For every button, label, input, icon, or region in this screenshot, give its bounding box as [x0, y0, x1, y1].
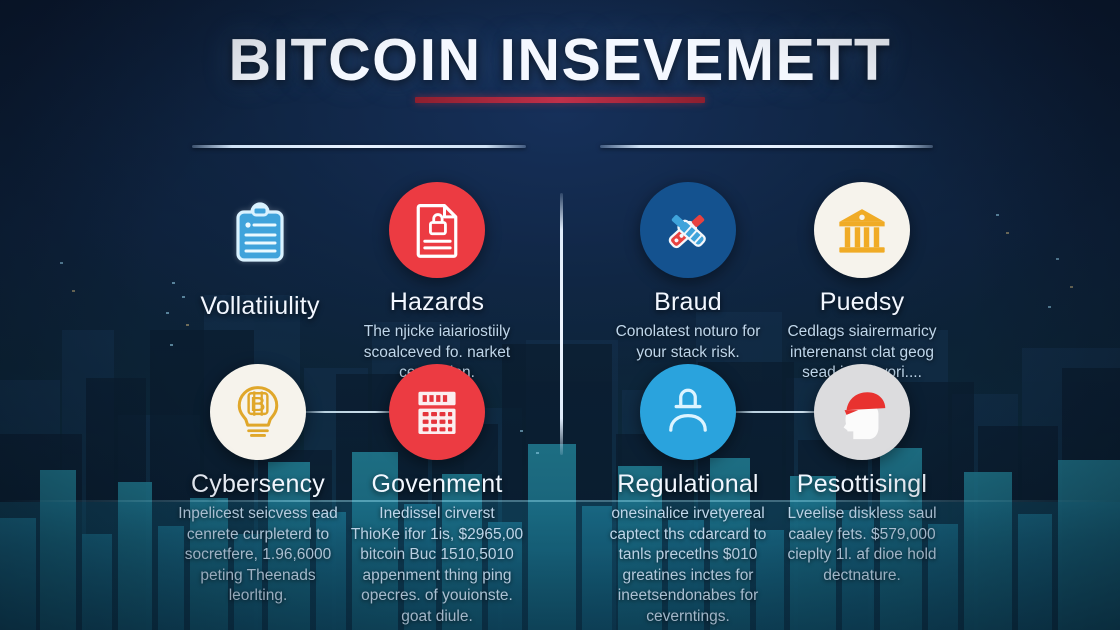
government-circle [389, 364, 485, 460]
volatility-circle [212, 186, 308, 282]
volatility-icon-wrap [212, 186, 308, 282]
calculator-icon [410, 385, 464, 439]
hazards-icon-wrap [389, 182, 485, 278]
cybersecurity-icon-wrap: B [210, 364, 306, 460]
government-title: Govenment [337, 470, 537, 499]
cell-government[interactable]: Govenment Inedissel cirverst ThioKe ifor… [337, 364, 537, 628]
title-underline [415, 97, 705, 103]
divider-vertical-center [560, 193, 563, 455]
fraud-title: Braud [588, 288, 788, 317]
cell-hazards[interactable]: Hazards The njicke iaiariostiily scoalce… [337, 182, 537, 384]
svg-text:B: B [251, 393, 266, 416]
fraud-body: Conolatest noturo for your stack risk. [588, 322, 788, 363]
bank-building-icon [833, 201, 891, 259]
psychological-icon-wrap [814, 364, 910, 460]
fraud-icon-wrap [640, 182, 736, 278]
cell-volatility[interactable]: Vollatiiulity [160, 186, 360, 326]
infographic-canvas: BITCOIN INSEVEMETT Vollatiiulity [0, 0, 1120, 630]
divider-horizontal-right [600, 145, 933, 148]
psychological-title: Pesottisingl [762, 470, 962, 499]
cell-cybersecurity[interactable]: B Cybersency Inpelicest seicvess ead cen… [158, 364, 358, 607]
cybersecurity-title: Cybersency [158, 470, 358, 499]
hazards-title: Hazards [337, 288, 537, 317]
cell-psychological[interactable]: Pesottisingl Lveelise diskless saul caal… [762, 364, 962, 586]
cell-regulational[interactable]: Regulational onesinalice irvetyereal cap… [588, 364, 788, 628]
page-title: BITCOIN INSEVEMETT [0, 26, 1120, 94]
custody-title: Puedsy [762, 288, 962, 317]
government-icon-wrap [389, 364, 485, 460]
cell-fraud[interactable]: Braud Conolatest noturo for your stack r… [588, 182, 788, 363]
clipboard-icon [228, 202, 292, 266]
hazards-circle [389, 182, 485, 278]
cybersecurity-circle: B [210, 364, 306, 460]
bitcoin-lightbulb-icon: B [228, 382, 288, 442]
volatility-title: Vollatiiulity [160, 292, 360, 321]
cybersecurity-body: Inpelicest seicvess ead cenrete curplete… [158, 504, 358, 607]
psychological-body: Lveelise diskless saul caaley fets. $579… [762, 504, 962, 586]
syringe-tools-icon [657, 199, 719, 261]
custody-circle [814, 182, 910, 278]
regulational-body: onesinalice irvetyereal captect ths cdar… [588, 504, 788, 628]
regulational-title: Regulational [588, 470, 788, 499]
head-cap-icon [831, 381, 893, 443]
divider-horizontal-left [192, 145, 526, 148]
fraud-circle [640, 182, 736, 278]
document-lock-icon [407, 200, 467, 260]
regulational-icon-wrap [640, 364, 736, 460]
custody-icon-wrap [814, 182, 910, 278]
regulational-circle [640, 364, 736, 460]
person-judge-icon [659, 383, 717, 441]
psychological-circle [814, 364, 910, 460]
cell-custody[interactable]: Puedsy Cedlags siairermaricy interenanst… [762, 182, 962, 384]
government-body: Inedissel cirverst ThioKe ifor 1is, $296… [337, 504, 537, 628]
